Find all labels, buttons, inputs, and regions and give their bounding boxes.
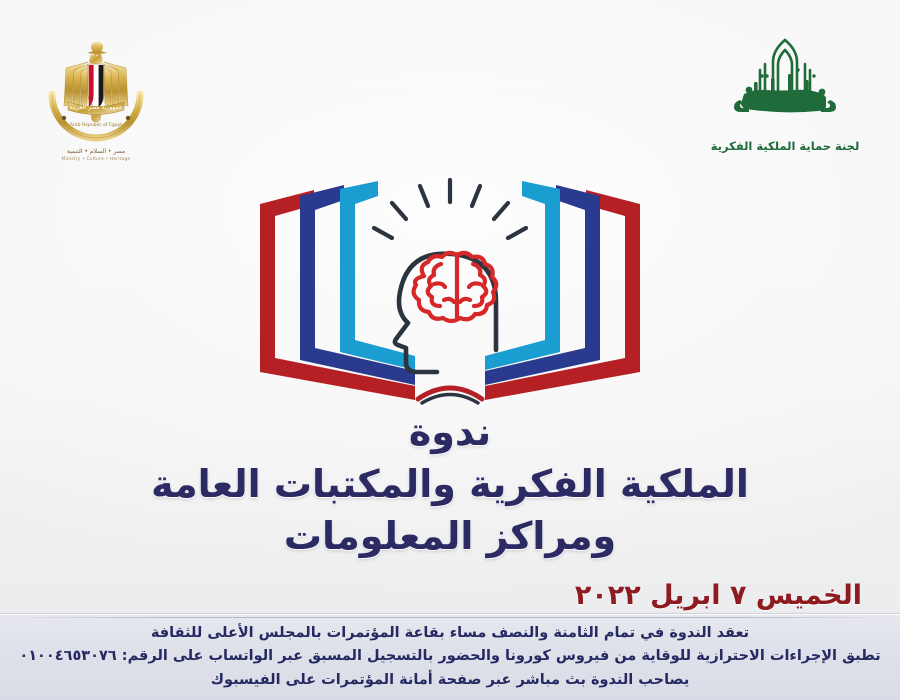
brain-icon [414, 253, 497, 321]
book-right-pages [485, 181, 640, 400]
title-block: ندوة الملكية الفكرية والمكتبات العامة وم… [0, 412, 900, 560]
book-left-pages [260, 181, 415, 400]
scc-caption: لجنة حماية الملكية الفكرية [690, 139, 880, 153]
footer-line-registration: تطبق الإجراءات الاحترازية للوقاية من فير… [0, 645, 900, 668]
emblem-ring-text-en: Arab Republic of Egypt [70, 122, 123, 128]
idea-rays-icon [374, 180, 526, 238]
title-line-1: الملكية الفكرية والمكتبات العامة [151, 462, 749, 506]
eagle-of-saladin-icon: جمهورية مصر العربية Arab Republic of Egy… [28, 34, 164, 146]
poster-canvas: جمهورية مصر العربية Arab Republic of Egy… [0, 0, 900, 700]
emblem-ring-text-ar: جمهورية مصر العربية [70, 104, 123, 111]
scc-wordmark [734, 74, 836, 112]
emblem-caption-en: Ministry • Culture • Heritage [28, 156, 164, 162]
flag-shield-icon [88, 64, 104, 108]
event-date: الخميس ٧ ابريل ٢٠٢٢ [575, 580, 862, 611]
footer-divider [0, 617, 900, 618]
book-brain-icon [248, 172, 652, 408]
mosque-dome-calligraphy-icon [710, 34, 860, 138]
title-kicker: ندوة [0, 412, 900, 453]
open-book-brain-illustration [248, 172, 652, 408]
footer-line-venue: تعقد الندوة في تمام الثامنة والنصف مساء … [0, 622, 900, 645]
title-main: الملكية الفكرية والمكتبات العامة ومراكز … [0, 461, 900, 560]
title-line-2: ومراكز المعلومات [0, 513, 900, 559]
egypt-national-emblem: جمهورية مصر العربية Arab Republic of Egy… [28, 34, 164, 164]
footer-line-livestream: يصاحب الندوة بث مباشر عبر صفحة أمانة الم… [0, 669, 900, 692]
emblem-caption-ar: مصر • السلام • التنمية [28, 147, 164, 156]
supreme-council-of-culture-logo: لجنة حماية الملكية الفكرية [690, 34, 880, 166]
footer-info: تعقد الندوة في تمام الثامنة والنصف مساء … [0, 622, 900, 692]
emblem-caption: مصر • السلام • التنمية Ministry • Cultur… [28, 147, 164, 162]
